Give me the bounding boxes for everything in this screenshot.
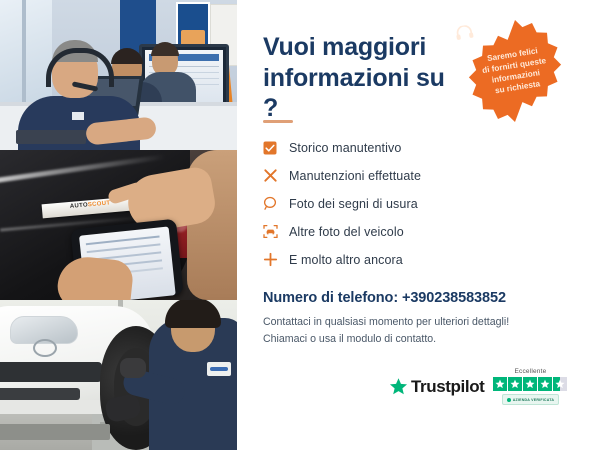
mechanic-uniform-logo-decor xyxy=(207,362,231,376)
feature-label: Storico manutentivo xyxy=(289,141,401,155)
contact-description-line-1: Contattaci in qualsiasi momento per ulte… xyxy=(263,314,523,331)
headset-icon xyxy=(454,24,474,41)
advertisement-banner: AUTOSCOUT xyxy=(0,0,600,450)
phone-number-label: Numero di telefono: +390238583852 xyxy=(263,290,506,306)
mechanic-wheel-inspection-photo xyxy=(0,300,237,450)
trustpilot-stars xyxy=(493,377,567,391)
contact-description-line-2: Chiamaci o usa il modulo di contatto. xyxy=(263,331,523,348)
star-filled-1 xyxy=(493,377,507,391)
promo-starburst-badge: Saremo felici di fornirti queste informa… xyxy=(462,18,568,124)
trustpilot-wordmark: Trustpilot xyxy=(411,377,484,397)
feature-list: Storico manutentivo Manutenzioni effettu… xyxy=(263,134,513,274)
strip-brand-text: AUTOSCOUT xyxy=(70,200,111,210)
call-center-agents-photo xyxy=(0,0,237,150)
car-grille-decor xyxy=(0,362,102,382)
vehicle-inspection-tablet-photo: AUTOSCOUT xyxy=(0,150,237,300)
content-panel: Vuoi maggiori informazioni su ? Saremo f… xyxy=(237,0,600,450)
star-filled-4 xyxy=(538,377,552,391)
star-filled-2 xyxy=(508,377,522,391)
star-half-5 xyxy=(553,377,567,391)
feature-label: E molto altro ancora xyxy=(289,253,403,267)
verified-check-icon xyxy=(507,398,511,402)
car-headlight-decor xyxy=(10,316,78,344)
trustpilot-verified-badge: AZIENDA VERIFICATA xyxy=(502,394,559,405)
page-title-line-1: Vuoi maggiori xyxy=(263,32,463,63)
trustpilot-score: Eccellente xyxy=(493,368,567,405)
feature-label: Altre foto del veicolo xyxy=(289,225,404,239)
photo-column: AUTOSCOUT xyxy=(0,0,237,450)
car-lower-grille-decor xyxy=(0,388,80,400)
page-title-line-2: informazioni su ? xyxy=(263,63,463,124)
feature-label: Foto dei segni di usura xyxy=(289,197,418,211)
tools-cross-icon xyxy=(263,168,289,183)
feature-item-manutenzioni-effettuate: Manutenzioni effettuate xyxy=(263,162,513,189)
contact-description: Contattaci in qualsiasi momento per ulte… xyxy=(263,314,523,348)
star-filled-3 xyxy=(523,377,537,391)
trustpilot-rating-block: Trustpilot Eccellente xyxy=(389,368,567,405)
car-scan-frame-icon xyxy=(263,224,289,239)
verified-label: AZIENDA VERIFICATA xyxy=(513,398,554,402)
feature-item-altre-foto-veicolo: Altre foto del veicolo xyxy=(263,218,513,245)
mechanic-hair-decor xyxy=(165,300,221,328)
mechanic-glove-upper-decor xyxy=(120,358,146,378)
trustpilot-star-icon xyxy=(389,377,408,396)
plus-icon xyxy=(263,252,289,267)
feature-item-storico-manutentivo: Storico manutentivo xyxy=(263,134,513,161)
feature-label: Manutenzioni effettuate xyxy=(289,169,421,183)
keyboard-decor xyxy=(16,130,86,144)
checkbox-checked-icon xyxy=(263,141,289,155)
title-underline-rule xyxy=(263,120,293,123)
agent-1-name-badge xyxy=(72,112,84,120)
agent-1-headset xyxy=(46,48,114,87)
trustpilot-logo: Trustpilot xyxy=(389,377,484,397)
feature-item-molto-altro: E molto altro ancora xyxy=(263,246,513,273)
trustpilot-rating-label: Eccellente xyxy=(514,368,546,375)
vehicle-lift-decor xyxy=(0,424,110,440)
feature-item-foto-segni-usura: Foto dei segni di usura xyxy=(263,190,513,217)
page-title: Vuoi maggiori informazioni su ? xyxy=(263,32,463,124)
magnifier-icon xyxy=(263,196,289,211)
